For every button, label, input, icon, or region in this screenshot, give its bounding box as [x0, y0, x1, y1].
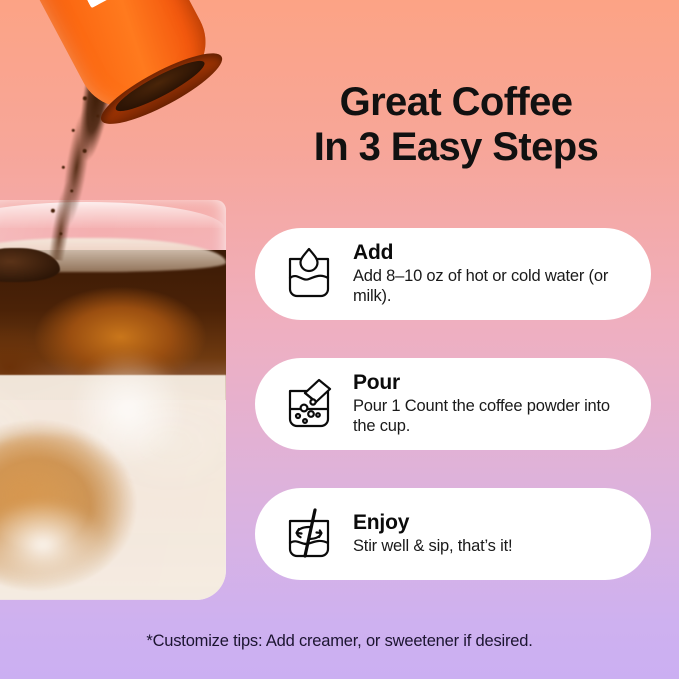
cup-pour-packet-icon	[283, 377, 335, 431]
milk-swirl	[0, 500, 108, 590]
cup-stir-spoon-icon	[283, 507, 335, 561]
cup-water-drop-icon	[283, 247, 335, 301]
step-title: Pour	[353, 372, 625, 395]
step-body: Add 8–10 oz of hot or cold water (or mil…	[353, 266, 625, 306]
product-photo	[0, 0, 248, 679]
headline-line-2: In 3 Easy Steps	[252, 125, 660, 170]
milk-swirl	[68, 350, 188, 470]
step-title: Add	[353, 242, 625, 265]
page-title: Great Coffee In 3 Easy Steps	[252, 80, 660, 170]
step-title: Enjoy	[353, 512, 625, 535]
infographic-canvas: Great Coffee In 3 Easy Steps Add Add 8–1…	[0, 0, 679, 679]
brand-logo-icon	[72, 0, 131, 8]
step-card-pour[interactable]: Pour Pour 1 Count the coffee powder into…	[255, 358, 651, 450]
step-body: Stir well & sip, that’s it!	[353, 536, 625, 556]
step-text: Add Add 8–10 oz of hot or cold water (or…	[353, 242, 625, 307]
step-text: Enjoy Stir well & sip, that’s it!	[353, 512, 625, 557]
step-body: Pour 1 Count the coffee powder into the …	[353, 396, 625, 436]
headline-line-1: Great Coffee	[340, 80, 573, 124]
glass-tumbler	[0, 200, 226, 600]
steps-list: Add Add 8–10 oz of hot or cold water (or…	[255, 228, 651, 580]
step-text: Pour Pour 1 Count the coffee powder into…	[353, 372, 625, 437]
step-card-enjoy[interactable]: Enjoy Stir well & sip, that’s it!	[255, 488, 651, 580]
customize-tips-note: *Customize tips: Add creamer, or sweeten…	[0, 632, 679, 651]
step-card-add[interactable]: Add Add 8–10 oz of hot or cold water (or…	[255, 228, 651, 320]
